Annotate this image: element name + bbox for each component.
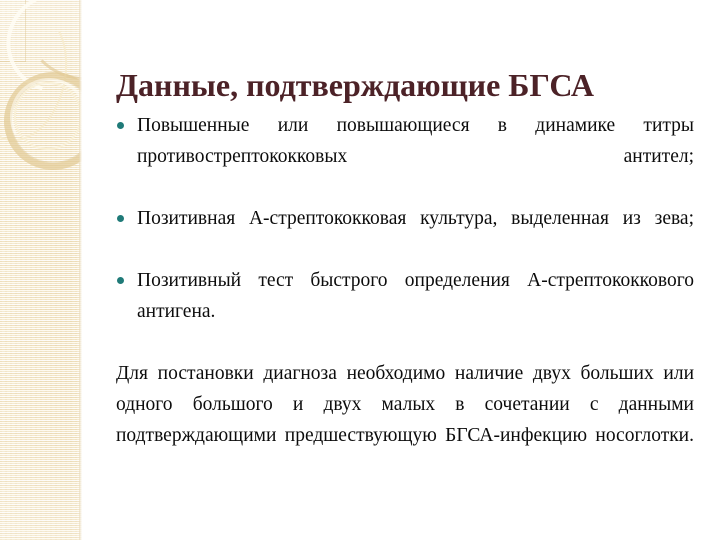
bullet-dot-icon (117, 122, 124, 129)
slide-content-area: Данные, подтверждающие БГСА Повышенные и… (82, 0, 720, 540)
sidebar-shading-overlay (0, 0, 82, 540)
bullet-dot-icon (117, 215, 124, 222)
bullet-item-1: Повышенные или повышающиеся в динамике т… (116, 110, 694, 203)
bullet-item-2-text: Позитивная А-стрептококковая культура, в… (137, 203, 694, 265)
presentation-slide: Данные, подтверждающие БГСА Повышенные и… (0, 0, 720, 540)
bullet-item-1-text: Повышенные или повышающиеся в динамике т… (137, 110, 694, 203)
bullet-dot-icon (117, 277, 124, 284)
bullet-list: Повышенные или повышающиеся в динамике т… (116, 110, 694, 358)
bullet-item-2: Позитивная А-стрептококковая культура, в… (116, 203, 694, 265)
bullet-item-3: Позитивный тест быстрого определения А-с… (116, 265, 694, 358)
slide-title: Данные, подтверждающие БГСА (116, 65, 696, 105)
slide-body: Повышенные или повышающиеся в динамике т… (116, 110, 694, 482)
decorative-sidebar (0, 0, 82, 540)
bullet-item-3-text: Позитивный тест быстрого определения А-с… (137, 265, 694, 358)
closing-paragraph: Для постановки диагноза необходимо налич… (116, 358, 694, 482)
